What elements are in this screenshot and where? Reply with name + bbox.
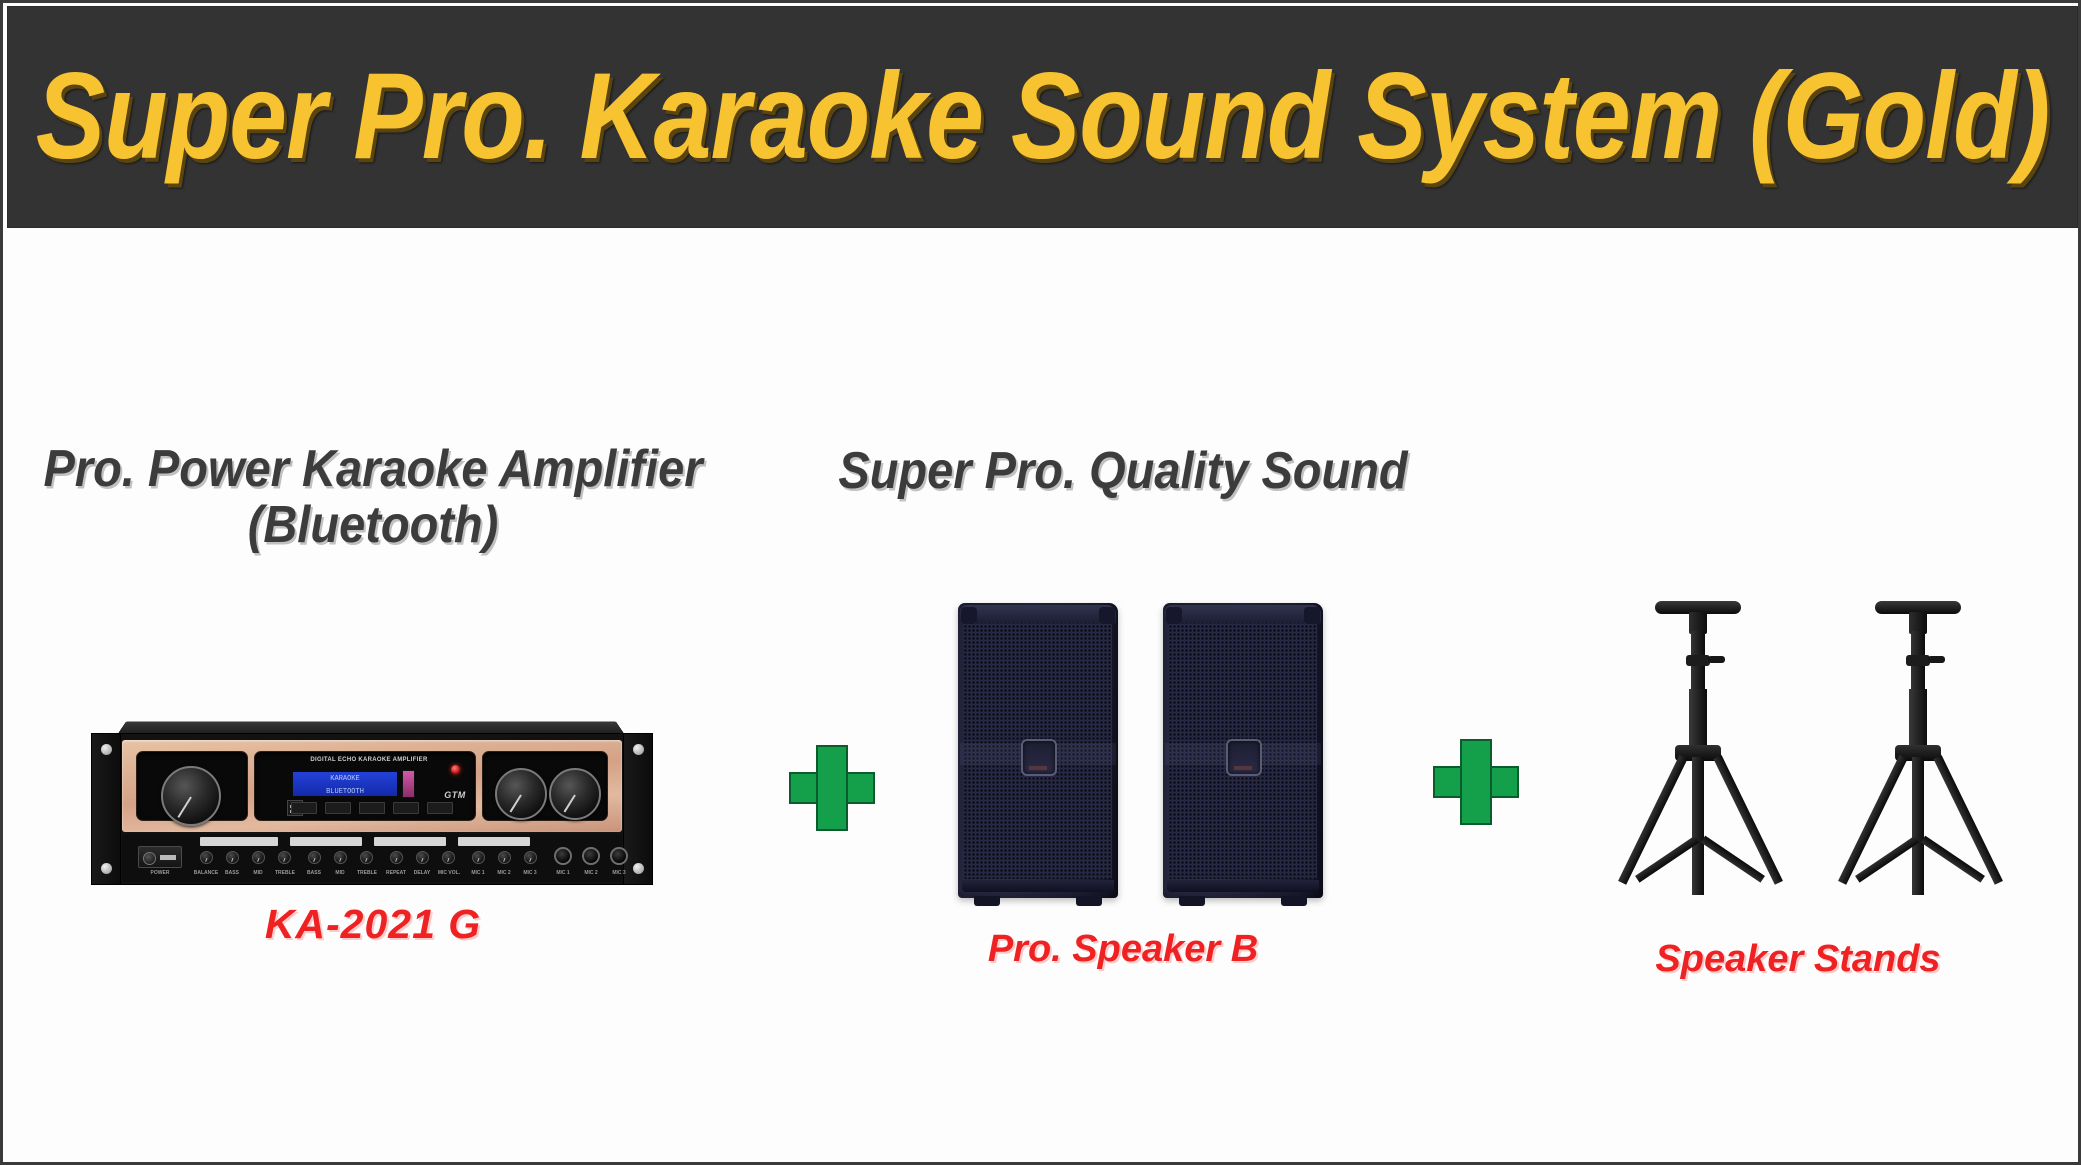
rack-screw-icon bbox=[101, 863, 112, 874]
mid-knob[interactable] bbox=[334, 851, 347, 864]
rack-ear-left bbox=[91, 733, 121, 885]
power-label: POWER bbox=[136, 870, 184, 876]
faceplate-button[interactable] bbox=[393, 802, 419, 814]
faceplate-button-row[interactable] bbox=[291, 802, 473, 816]
amplifier-image: DIGITAL ECHO KARAOKE AMPLIFIER KARAOKE B… bbox=[91, 716, 653, 888]
plus-icon-bar-vertical bbox=[816, 745, 848, 831]
speaker-image-left bbox=[958, 603, 1118, 898]
stand-adjust-knob[interactable] bbox=[1928, 656, 1945, 663]
power-switch[interactable] bbox=[138, 846, 182, 868]
stand-center-leg bbox=[1912, 757, 1924, 895]
section-label-mic-tone bbox=[290, 837, 362, 846]
amplifier-heading-line2: (Bluetooth) bbox=[33, 497, 713, 553]
speaker-image-right bbox=[1163, 603, 1323, 898]
stand-lower-pole bbox=[1689, 689, 1707, 751]
stands-label: Speaker Stands bbox=[1563, 938, 2033, 981]
speaker-foot bbox=[1076, 896, 1102, 906]
jack-label: MIC 1 bbox=[548, 870, 578, 876]
bass-knob[interactable] bbox=[226, 851, 239, 864]
speaker-corner-icon bbox=[1304, 607, 1320, 624]
speaker-corner-icon bbox=[961, 607, 977, 624]
knob-label: BASS bbox=[218, 870, 246, 876]
rack-screw-icon bbox=[633, 744, 644, 755]
speaker-base bbox=[1167, 880, 1319, 892]
section-label-mic-echo bbox=[200, 837, 278, 846]
speaker-foot bbox=[1281, 896, 1307, 906]
amplifier-heading-line1: Pro. Power Karaoke Amplifier bbox=[33, 441, 713, 497]
mic2-knob[interactable] bbox=[498, 851, 511, 864]
plus-icon bbox=[1433, 739, 1515, 821]
repeat-knob[interactable] bbox=[390, 851, 403, 864]
amplifier-model-label: KA-2021 G bbox=[133, 901, 613, 948]
faceplate-button[interactable] bbox=[359, 802, 385, 814]
treble-knob[interactable] bbox=[360, 851, 373, 864]
section-label-music bbox=[374, 837, 446, 846]
mic2-jack[interactable] bbox=[582, 847, 600, 865]
lcd-line-1: KARAOKE bbox=[293, 774, 397, 785]
lcd-line-2: BLUETOOTH bbox=[293, 787, 397, 798]
mic-volume-knob[interactable] bbox=[442, 851, 455, 864]
poster-canvas: Super Pro. Karaoke Sound System (Gold) P… bbox=[0, 0, 2081, 1165]
stand-adjust-knob[interactable] bbox=[1708, 656, 1725, 663]
master-volume-knob[interactable] bbox=[495, 768, 547, 820]
speaker-corner-icon bbox=[1166, 607, 1182, 624]
amplifier-lcd-display: KARAOKE BLUETOOTH bbox=[291, 770, 399, 798]
treble-knob[interactable] bbox=[278, 851, 291, 864]
mic3-jack[interactable] bbox=[610, 847, 628, 865]
faceplate-button[interactable] bbox=[427, 802, 453, 814]
section-label-master bbox=[458, 837, 530, 846]
knob-label: TREBLE bbox=[351, 870, 383, 876]
amplifier-brand-text: DIGITAL ECHO KARAOKE AMPLIFIER bbox=[289, 757, 449, 763]
speaker-foot bbox=[974, 896, 1000, 906]
faceplate-button[interactable] bbox=[325, 802, 351, 814]
echo-volume-knob[interactable] bbox=[161, 766, 221, 826]
speaker-stand-right bbox=[1833, 601, 2003, 901]
speakers-heading: Super Pro. Quality Sound bbox=[813, 443, 1433, 499]
knob-label: BASS bbox=[300, 870, 328, 876]
rack-ear-right bbox=[623, 733, 653, 885]
knob-label: MIC 1 bbox=[464, 870, 492, 876]
speaker-cabinet-top bbox=[960, 605, 1116, 623]
faceplate-model-mark: GTM bbox=[433, 790, 477, 800]
stand-lower-pole bbox=[1909, 689, 1927, 751]
page-title: Super Pro. Karaoke Sound System (Gold) bbox=[36, 47, 2050, 187]
bass-knob[interactable] bbox=[308, 851, 321, 864]
amplifier-lower-panel: POWER BALANCE BASS MID TREBLE BASS MID bbox=[122, 834, 622, 882]
mic3-knob[interactable] bbox=[524, 851, 537, 864]
knob-label: MID bbox=[244, 870, 272, 876]
mic1-jack[interactable] bbox=[554, 847, 572, 865]
faceplate-button[interactable] bbox=[291, 802, 317, 814]
speaker-logo-badge bbox=[1226, 739, 1262, 776]
jack-label: MIC 2 bbox=[576, 870, 606, 876]
power-led-icon bbox=[451, 765, 460, 774]
balance-knob[interactable] bbox=[200, 851, 213, 864]
amplifier-heading: Pro. Power Karaoke Amplifier (Bluetooth) bbox=[33, 441, 713, 553]
level-meter-icon bbox=[402, 770, 415, 798]
rack-screw-icon bbox=[633, 863, 644, 874]
amplifier-faceplate: DIGITAL ECHO KARAOKE AMPLIFIER KARAOKE B… bbox=[122, 740, 622, 832]
plus-icon-bar-vertical bbox=[1460, 739, 1492, 825]
rack-screw-icon bbox=[101, 744, 112, 755]
speaker-logo-badge bbox=[1021, 739, 1057, 776]
faceplate-well-right bbox=[482, 751, 608, 821]
speaker-base bbox=[962, 880, 1114, 892]
knob-label: TREBLE bbox=[269, 870, 301, 876]
plus-icon bbox=[789, 745, 871, 827]
knob-label: MIC 3 bbox=[516, 870, 544, 876]
knob-label: MIC VOL. bbox=[432, 870, 466, 876]
stand-center-leg bbox=[1692, 757, 1704, 895]
speaker-foot bbox=[1179, 896, 1205, 906]
speaker-model-label: Pro. Speaker B bbox=[883, 928, 1363, 971]
mic1-knob[interactable] bbox=[472, 851, 485, 864]
stand-height-collar[interactable] bbox=[1906, 655, 1930, 666]
knob-label: MIC 2 bbox=[490, 870, 518, 876]
jack-label: MIC 3 bbox=[604, 870, 634, 876]
mid-knob[interactable] bbox=[252, 851, 265, 864]
delay-knob[interactable] bbox=[416, 851, 429, 864]
speaker-corner-icon bbox=[1099, 607, 1115, 624]
faceplate-well-center: DIGITAL ECHO KARAOKE AMPLIFIER KARAOKE B… bbox=[254, 751, 476, 821]
mic-volume-knob[interactable] bbox=[549, 768, 601, 820]
knob-label: REPEAT bbox=[381, 870, 411, 876]
speaker-cabinet-top bbox=[1165, 605, 1321, 623]
stand-height-collar[interactable] bbox=[1686, 655, 1710, 666]
knob-label: MID bbox=[326, 870, 354, 876]
faceplate-well-left bbox=[136, 751, 248, 821]
speaker-stand-left bbox=[1613, 601, 1783, 901]
poster-banner: Super Pro. Karaoke Sound System (Gold) bbox=[7, 6, 2078, 228]
